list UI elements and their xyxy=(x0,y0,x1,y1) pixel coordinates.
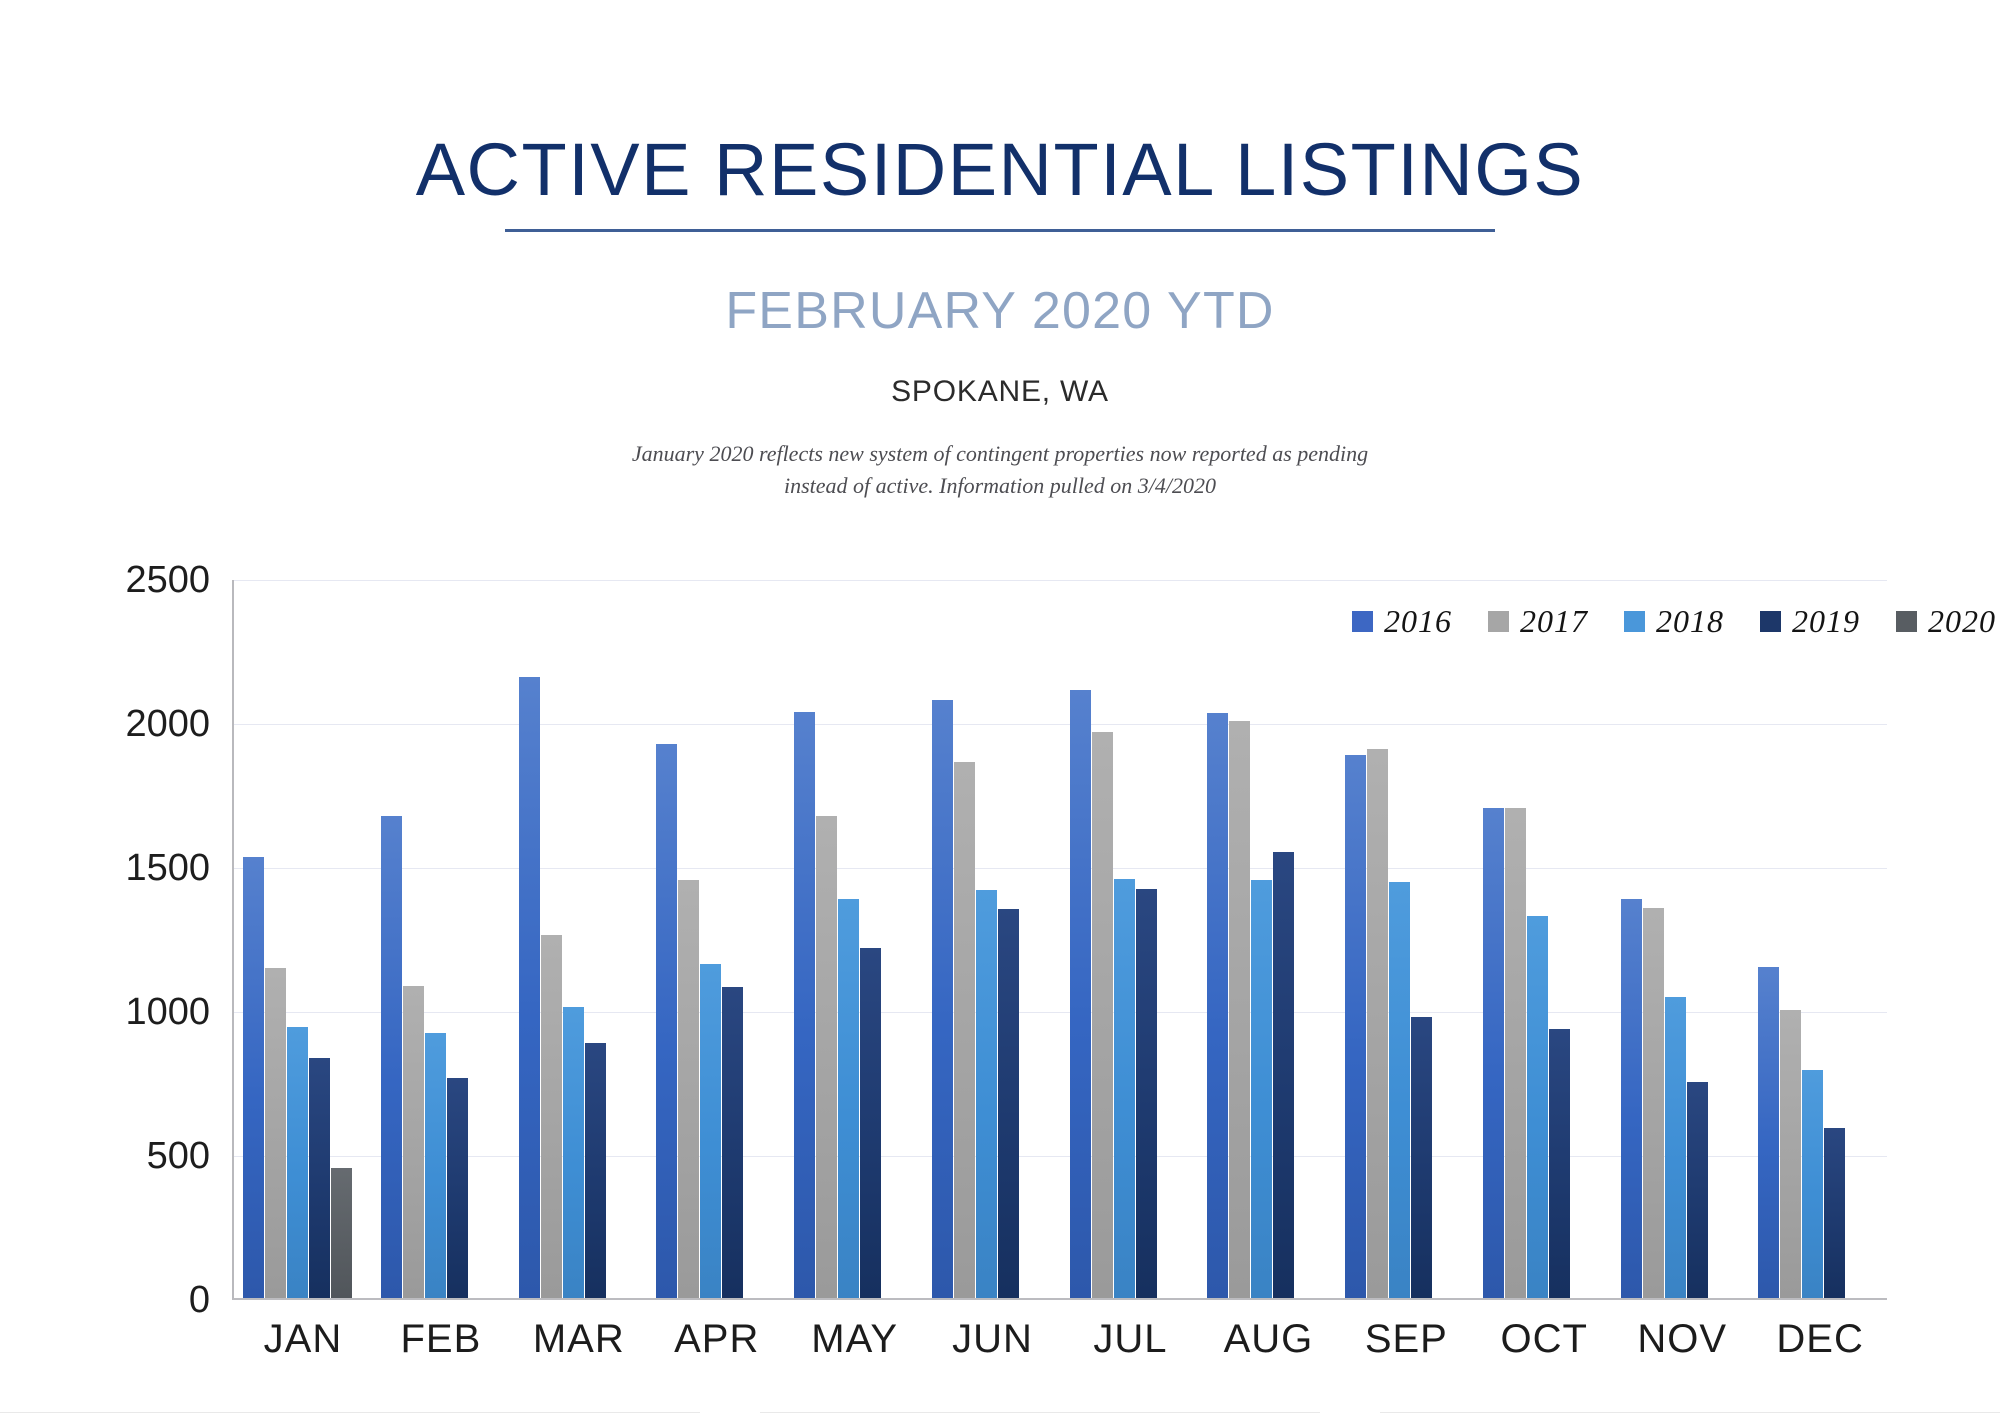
x-tick-label-apr: APR xyxy=(648,1307,786,1377)
legend-item-2020[interactable]: 2020 xyxy=(1896,605,1996,637)
bar-sep-2018[interactable] xyxy=(1389,882,1410,1298)
bar-group-apr xyxy=(647,580,785,1298)
x-tick-label-nov: NOV xyxy=(1613,1307,1751,1377)
bar-sep-2016[interactable] xyxy=(1345,755,1366,1298)
bar-dec-2016[interactable] xyxy=(1758,967,1779,1298)
legend-label-2020: 2020 xyxy=(1928,605,1996,637)
bar-sep-2019[interactable] xyxy=(1411,1017,1432,1298)
y-tick-label: 500 xyxy=(147,1137,210,1175)
bar-groups xyxy=(234,580,1887,1298)
location-label: SPOKANE, WA xyxy=(0,377,2000,407)
bar-sep-2017[interactable] xyxy=(1367,749,1388,1298)
legend-label-2019: 2019 xyxy=(1792,605,1860,637)
x-tick-label-mar: MAR xyxy=(510,1307,648,1377)
bar-oct-2016[interactable] xyxy=(1483,808,1504,1298)
legend-label-2018: 2018 xyxy=(1656,605,1724,637)
bar-jun-2018[interactable] xyxy=(976,890,997,1298)
bar-group-aug xyxy=(1198,580,1336,1298)
legend-swatch-icon-2019 xyxy=(1760,611,1781,632)
bar-may-2016[interactable] xyxy=(794,712,815,1298)
legend-item-2016[interactable]: 2016 xyxy=(1352,605,1452,637)
bar-oct-2017[interactable] xyxy=(1505,808,1526,1298)
legend-label-2016: 2016 xyxy=(1384,605,1452,637)
bar-aug-2018[interactable] xyxy=(1251,880,1272,1298)
chart-header: ACTIVE RESIDENTIAL LISTINGS FEBRUARY 202… xyxy=(0,0,2000,502)
legend-swatch-icon-2020 xyxy=(1896,611,1917,632)
y-tick-label: 1000 xyxy=(125,993,210,1031)
y-tick-label: 2500 xyxy=(125,561,210,599)
bar-may-2019[interactable] xyxy=(860,948,881,1298)
bar-group-jan xyxy=(234,580,372,1298)
x-tick-label-dec: DEC xyxy=(1751,1307,1889,1377)
bar-dec-2017[interactable] xyxy=(1780,1010,1801,1298)
bar-group-oct xyxy=(1474,580,1612,1298)
bar-jul-2017[interactable] xyxy=(1092,732,1113,1298)
x-tick-label-jul: JUL xyxy=(1062,1307,1200,1377)
bar-chart: 05001000150020002500 JANFEBMARAPRMAYJUNJ… xyxy=(0,555,2000,1413)
bar-jun-2016[interactable] xyxy=(932,700,953,1298)
bar-mar-2019[interactable] xyxy=(585,1043,606,1298)
footnote: January 2020 reflects new system of cont… xyxy=(620,438,1380,502)
bar-jul-2018[interactable] xyxy=(1114,879,1135,1298)
bar-apr-2019[interactable] xyxy=(722,987,743,1298)
bar-group-sep xyxy=(1336,580,1474,1298)
bar-aug-2016[interactable] xyxy=(1207,713,1228,1298)
bar-feb-2016[interactable] xyxy=(381,816,402,1298)
x-tick-label-sep: SEP xyxy=(1337,1307,1475,1377)
bar-oct-2018[interactable] xyxy=(1527,916,1548,1298)
legend-label-2017: 2017 xyxy=(1520,605,1588,637)
bar-jun-2019[interactable] xyxy=(998,909,1019,1298)
bar-jan-2017[interactable] xyxy=(265,968,286,1298)
y-tick-label: 0 xyxy=(189,1281,210,1319)
bar-jan-2018[interactable] xyxy=(287,1027,308,1298)
chart-page: ACTIVE RESIDENTIAL LISTINGS FEBRUARY 202… xyxy=(0,0,2000,1413)
plot-area xyxy=(232,580,1887,1300)
bar-aug-2019[interactable] xyxy=(1273,852,1294,1298)
bar-mar-2016[interactable] xyxy=(519,677,540,1298)
bar-jan-2016[interactable] xyxy=(243,857,264,1298)
bar-group-feb xyxy=(372,580,510,1298)
y-tick-label: 2000 xyxy=(125,705,210,743)
page-title: ACTIVE RESIDENTIAL LISTINGS xyxy=(0,133,2000,207)
bar-feb-2019[interactable] xyxy=(447,1078,468,1298)
x-tick-label-aug: AUG xyxy=(1199,1307,1337,1377)
x-tick-label-jan: JAN xyxy=(234,1307,372,1377)
title-underline xyxy=(505,229,1495,232)
legend-swatch-icon-2017 xyxy=(1488,611,1509,632)
legend-item-2019[interactable]: 2019 xyxy=(1760,605,1860,637)
legend-swatch-icon-2016 xyxy=(1352,611,1373,632)
bar-nov-2019[interactable] xyxy=(1687,1082,1708,1298)
x-tick-label-jun: JUN xyxy=(924,1307,1062,1377)
y-tick-label: 1500 xyxy=(125,849,210,887)
bar-nov-2017[interactable] xyxy=(1643,908,1664,1298)
bar-aug-2017[interactable] xyxy=(1229,721,1250,1298)
bar-group-mar xyxy=(510,580,648,1298)
page-bottom-rules xyxy=(0,1395,2000,1413)
bar-nov-2018[interactable] xyxy=(1665,997,1686,1298)
bar-jul-2016[interactable] xyxy=(1070,690,1091,1298)
bar-feb-2017[interactable] xyxy=(403,986,424,1298)
bar-mar-2018[interactable] xyxy=(563,1007,584,1298)
bar-dec-2018[interactable] xyxy=(1802,1070,1823,1298)
x-tick-label-may: MAY xyxy=(786,1307,924,1377)
bar-group-jul xyxy=(1061,580,1199,1298)
bar-group-jun xyxy=(923,580,1061,1298)
bar-may-2018[interactable] xyxy=(838,899,859,1298)
bar-feb-2018[interactable] xyxy=(425,1033,446,1298)
x-tick-label-oct: OCT xyxy=(1475,1307,1613,1377)
bar-dec-2019[interactable] xyxy=(1824,1128,1845,1298)
bar-jan-2020[interactable] xyxy=(331,1168,352,1298)
bar-jul-2019[interactable] xyxy=(1136,889,1157,1298)
legend-item-2017[interactable]: 2017 xyxy=(1488,605,1588,637)
bar-may-2017[interactable] xyxy=(816,816,837,1298)
bar-jan-2019[interactable] xyxy=(309,1058,330,1298)
x-tick-label-feb: FEB xyxy=(372,1307,510,1377)
bar-group-nov xyxy=(1612,580,1750,1298)
bar-apr-2016[interactable] xyxy=(656,744,677,1298)
legend-item-2018[interactable]: 2018 xyxy=(1624,605,1724,637)
bar-jun-2017[interactable] xyxy=(954,762,975,1298)
bar-apr-2018[interactable] xyxy=(700,964,721,1298)
bar-apr-2017[interactable] xyxy=(678,880,699,1298)
legend-swatch-icon-2018 xyxy=(1624,611,1645,632)
bar-nov-2016[interactable] xyxy=(1621,899,1642,1298)
page-subtitle: FEBRUARY 2020 YTD xyxy=(0,285,2000,337)
bar-oct-2019[interactable] xyxy=(1549,1029,1570,1298)
bar-group-may xyxy=(785,580,923,1298)
y-axis-labels: 05001000150020002500 xyxy=(0,555,232,1300)
bar-group-dec xyxy=(1749,580,1887,1298)
chart-legend: 20162017201820192020 xyxy=(1352,605,1996,637)
bar-mar-2017[interactable] xyxy=(541,935,562,1298)
x-axis-labels: JANFEBMARAPRMAYJUNJULAUGSEPOCTNOVDEC xyxy=(234,1307,1889,1377)
